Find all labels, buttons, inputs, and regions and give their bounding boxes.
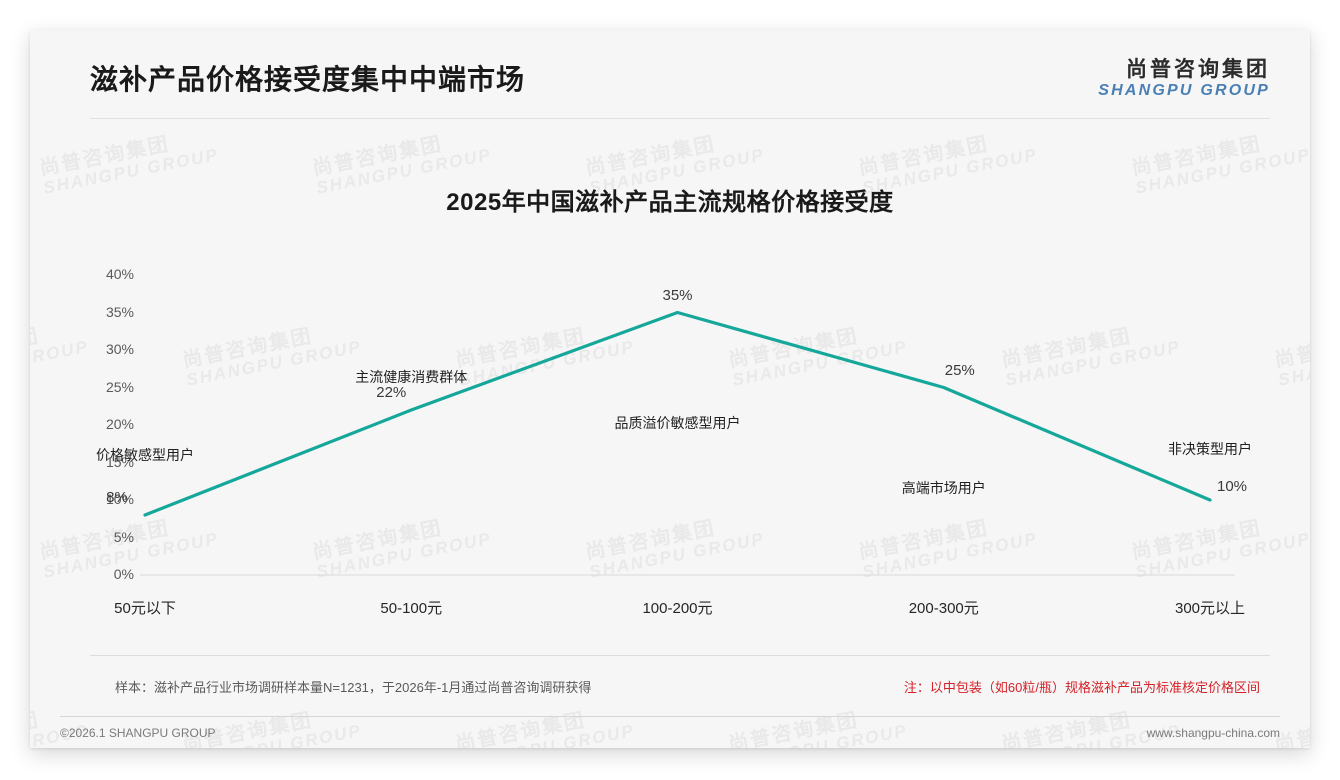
x-axis-tick-label: 100-200元 [642, 597, 712, 618]
logo-english-text: SHANGPU GROUP [1098, 82, 1270, 100]
y-axis-tick-label: 30% [78, 341, 134, 357]
data-point-label: 35% [662, 287, 692, 304]
data-point-label: 10% [1217, 478, 1247, 495]
slide-footer: ©2026.1 SHANGPU GROUP www.shangpu-china.… [60, 716, 1280, 748]
chart-annotation: 非决策型用户 [1168, 439, 1252, 459]
y-axis-tick-label: 40% [78, 266, 134, 282]
chart-annotation: 主流健康消费群体 [355, 367, 467, 387]
line-chart-svg [30, 30, 1310, 748]
data-point-label: 25% [945, 362, 975, 379]
x-axis-tick-label: 50元以下 [114, 597, 176, 618]
chart-annotation: 价格敏感型用户 [96, 445, 194, 465]
x-axis-tick-label: 50-100元 [380, 597, 442, 618]
remark-note: 注：以中包装（如60粒/瓶）规格滋补产品为标准核定价格区间 [904, 677, 1260, 696]
slide-card: 尚普咨询集团SHANGPU GROUP尚普咨询集团SHANGPU GROUP尚普… [30, 30, 1310, 748]
chart-annotation: 高端市场用户 [902, 478, 986, 498]
page-title: 滋补产品价格接受度集中中端市场 [90, 58, 525, 98]
x-axis-tick-label: 300元以上 [1175, 597, 1245, 618]
y-axis-tick-label: 0% [78, 566, 134, 582]
y-axis-tick-label: 20% [78, 416, 134, 432]
copyright-text: ©2026.1 SHANGPU GROUP [60, 726, 216, 740]
y-axis-tick-label: 5% [78, 529, 134, 545]
notes-bar: 样本：滋补产品行业市场调研样本量N=1231，于2026年-1月通过尚普咨询调研… [90, 655, 1270, 707]
chart-area: 40%35%30%25%20%15%10%5%0%50元以下50-100元100… [30, 30, 1310, 748]
data-point-label: 8% [106, 489, 128, 506]
y-axis-tick-label: 35% [78, 304, 134, 320]
y-axis-tick-label: 25% [78, 379, 134, 395]
brand-logo: 尚普咨询集团 SHANGPU GROUP [1098, 58, 1270, 101]
sample-note: 样本：滋补产品行业市场调研样本量N=1231，于2026年-1月通过尚普咨询调研… [115, 677, 591, 696]
x-axis-tick-label: 200-300元 [909, 597, 979, 618]
logo-chinese-text: 尚普咨询集团 [1098, 58, 1270, 82]
chart-title: 2025年中国滋补产品主流规格价格接受度 [30, 182, 1310, 217]
slide-header: 滋补产品价格接受度集中中端市场 尚普咨询集团 SHANGPU GROUP [30, 30, 1310, 118]
website-link[interactable]: www.shangpu-china.com [1147, 726, 1280, 740]
chart-annotation: 品质溢价敏感型用户 [615, 413, 741, 433]
